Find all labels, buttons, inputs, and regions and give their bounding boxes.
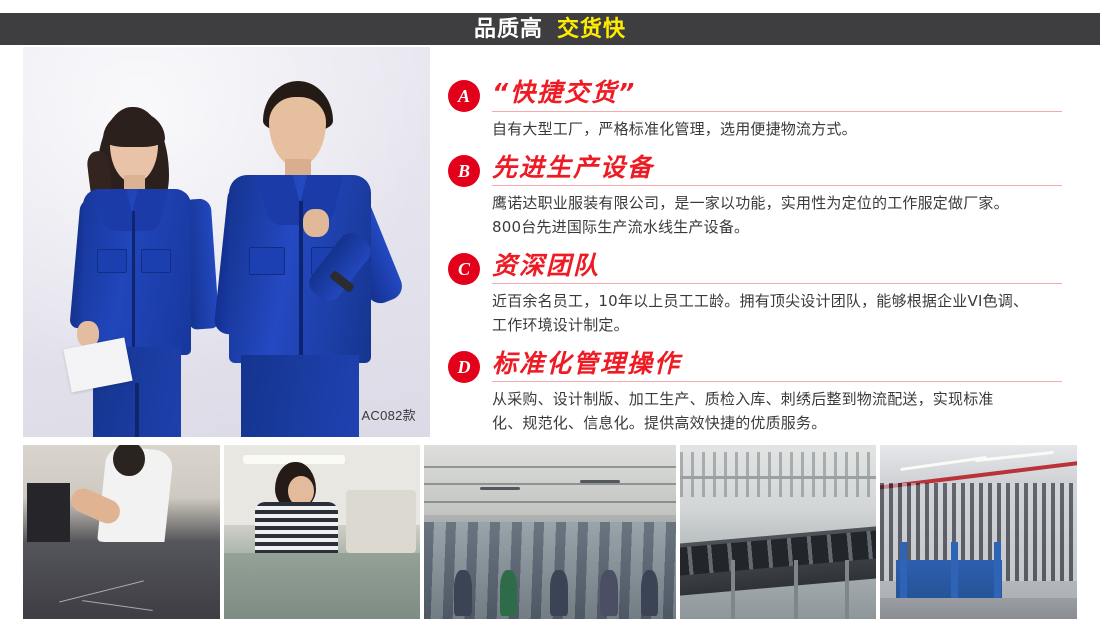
feature-body-c: 近百余名员工，10年以上员工工龄。拥有顶尖设计团队，能够根据企业VI色调、 工作… (492, 290, 1062, 337)
support-post (794, 560, 798, 619)
feature-title-a: “快捷交货” (492, 78, 1062, 112)
gallery-photo-conveyor (680, 445, 877, 619)
feature-body-line: 800台先进国际生产流水线生产设备。 (492, 216, 1062, 239)
feature-item-b: B 先进生产设备 鹰诺达职业服装有限公司，是一家以功能，实用性为定位的工作服定做… (448, 153, 1062, 239)
overhead-rail (680, 476, 877, 479)
fabric-layer (23, 542, 220, 619)
work-trousers (241, 355, 359, 437)
feature-title-b: 先进生产设备 (492, 153, 1062, 187)
ceiling-beam (424, 501, 676, 503)
gallery-photo-production-floor (424, 445, 676, 619)
gallery-photo-warehouse (880, 445, 1077, 619)
chest-pocket-right (141, 249, 171, 273)
feature-body-d: 从采购、设计制版、加工生产、质检入库、刺绣后整到物流配送，实现标准 化、规范化、… (492, 388, 1062, 435)
ceiling-fan (480, 487, 520, 490)
support-post (731, 560, 735, 619)
equipment-shape (27, 483, 70, 542)
title-segment-quality: 品质高 (474, 16, 543, 41)
feature-item-a: A “快捷交货” 自有大型工厂，严格标准化管理，选用便捷物流方式。 (448, 78, 1062, 141)
feature-body-line: 鹰诺达职业服装有限公司，是一家以功能，实用性为定位的工作服定做厂家。 (492, 192, 1062, 215)
ceiling-fan (580, 480, 620, 483)
chest-pocket-left (249, 247, 285, 275)
feature-list: A “快捷交货” 自有大型工厂，严格标准化管理，选用便捷物流方式。 B 先进生产… (448, 78, 1062, 439)
feature-body-line: 从采购、设计制版、加工生产、质检入库、刺绣后整到物流配送，实现标准 (492, 388, 1062, 411)
gallery-photo-sewing (224, 445, 421, 619)
ceiling-beam (424, 466, 676, 468)
gallery-photo-cutting (23, 445, 220, 619)
feature-body-line: 近百余名员工，10年以上员工工龄。拥有顶尖设计团队，能够根据企业VI色调、 (492, 290, 1062, 313)
sewing-machine (346, 490, 417, 553)
feature-body-line: 自有大型工厂，严格标准化管理，选用便捷物流方式。 (492, 118, 1062, 141)
feature-body-a: 自有大型工厂，严格标准化管理，选用便捷物流方式。 (492, 118, 1062, 141)
female-model-figure (71, 107, 221, 437)
male-model-figure (219, 81, 399, 437)
feature-badge-c: C (448, 253, 480, 285)
hanging-rail-garments (680, 452, 877, 497)
feature-body-line: 工作环境设计制定。 (492, 314, 1062, 337)
worker-figure (600, 570, 618, 615)
trouser-seam (135, 383, 139, 437)
feature-item-c: C 资深团队 近百余名员工，10年以上员工工龄。拥有顶尖设计团队，能够根据企业V… (448, 251, 1062, 337)
feature-body-b: 鹰诺达职业服装有限公司，是一家以功能，实用性为定位的工作服定做厂家。 800台先… (492, 192, 1062, 239)
title-segment-delivery: 交货快 (557, 16, 626, 41)
fabric-pile (224, 553, 421, 619)
face-shape (269, 97, 326, 167)
page-title: 品质高交货快 (474, 18, 626, 40)
ceiling-beam (424, 483, 676, 485)
product-code-label: AC082款 (361, 405, 416, 424)
worker-figure (500, 570, 518, 615)
feature-badge-b: B (448, 155, 480, 187)
feature-title-d: 标准化管理操作 (492, 349, 1062, 383)
warehouse-floor (880, 598, 1077, 619)
feature-badge-d: D (448, 351, 480, 383)
worker-figure (550, 570, 568, 615)
hero-photo-content: AC082款 (23, 47, 430, 437)
factory-photo-strip (23, 445, 1077, 619)
header-banner: 品质高交货快 (0, 13, 1100, 45)
feature-item-d: D 标准化管理操作 从采购、设计制版、加工生产、质检入库、刺绣后整到物流配送，实… (448, 349, 1062, 435)
chest-pocket-left (97, 249, 127, 273)
feature-body-line: 化、规范化、信息化。提供高效快捷的优质服务。 (492, 412, 1062, 435)
ceiling-area (424, 445, 676, 515)
hand-shape (303, 209, 329, 237)
support-post (845, 560, 849, 619)
worker-figure (641, 570, 659, 615)
worker-figure (454, 570, 472, 615)
feature-title-c: 资深团队 (492, 251, 1062, 285)
feature-badge-a: A (448, 80, 480, 112)
jacket-placket (132, 211, 135, 351)
hero-product-photo: AC082款 (23, 47, 430, 437)
